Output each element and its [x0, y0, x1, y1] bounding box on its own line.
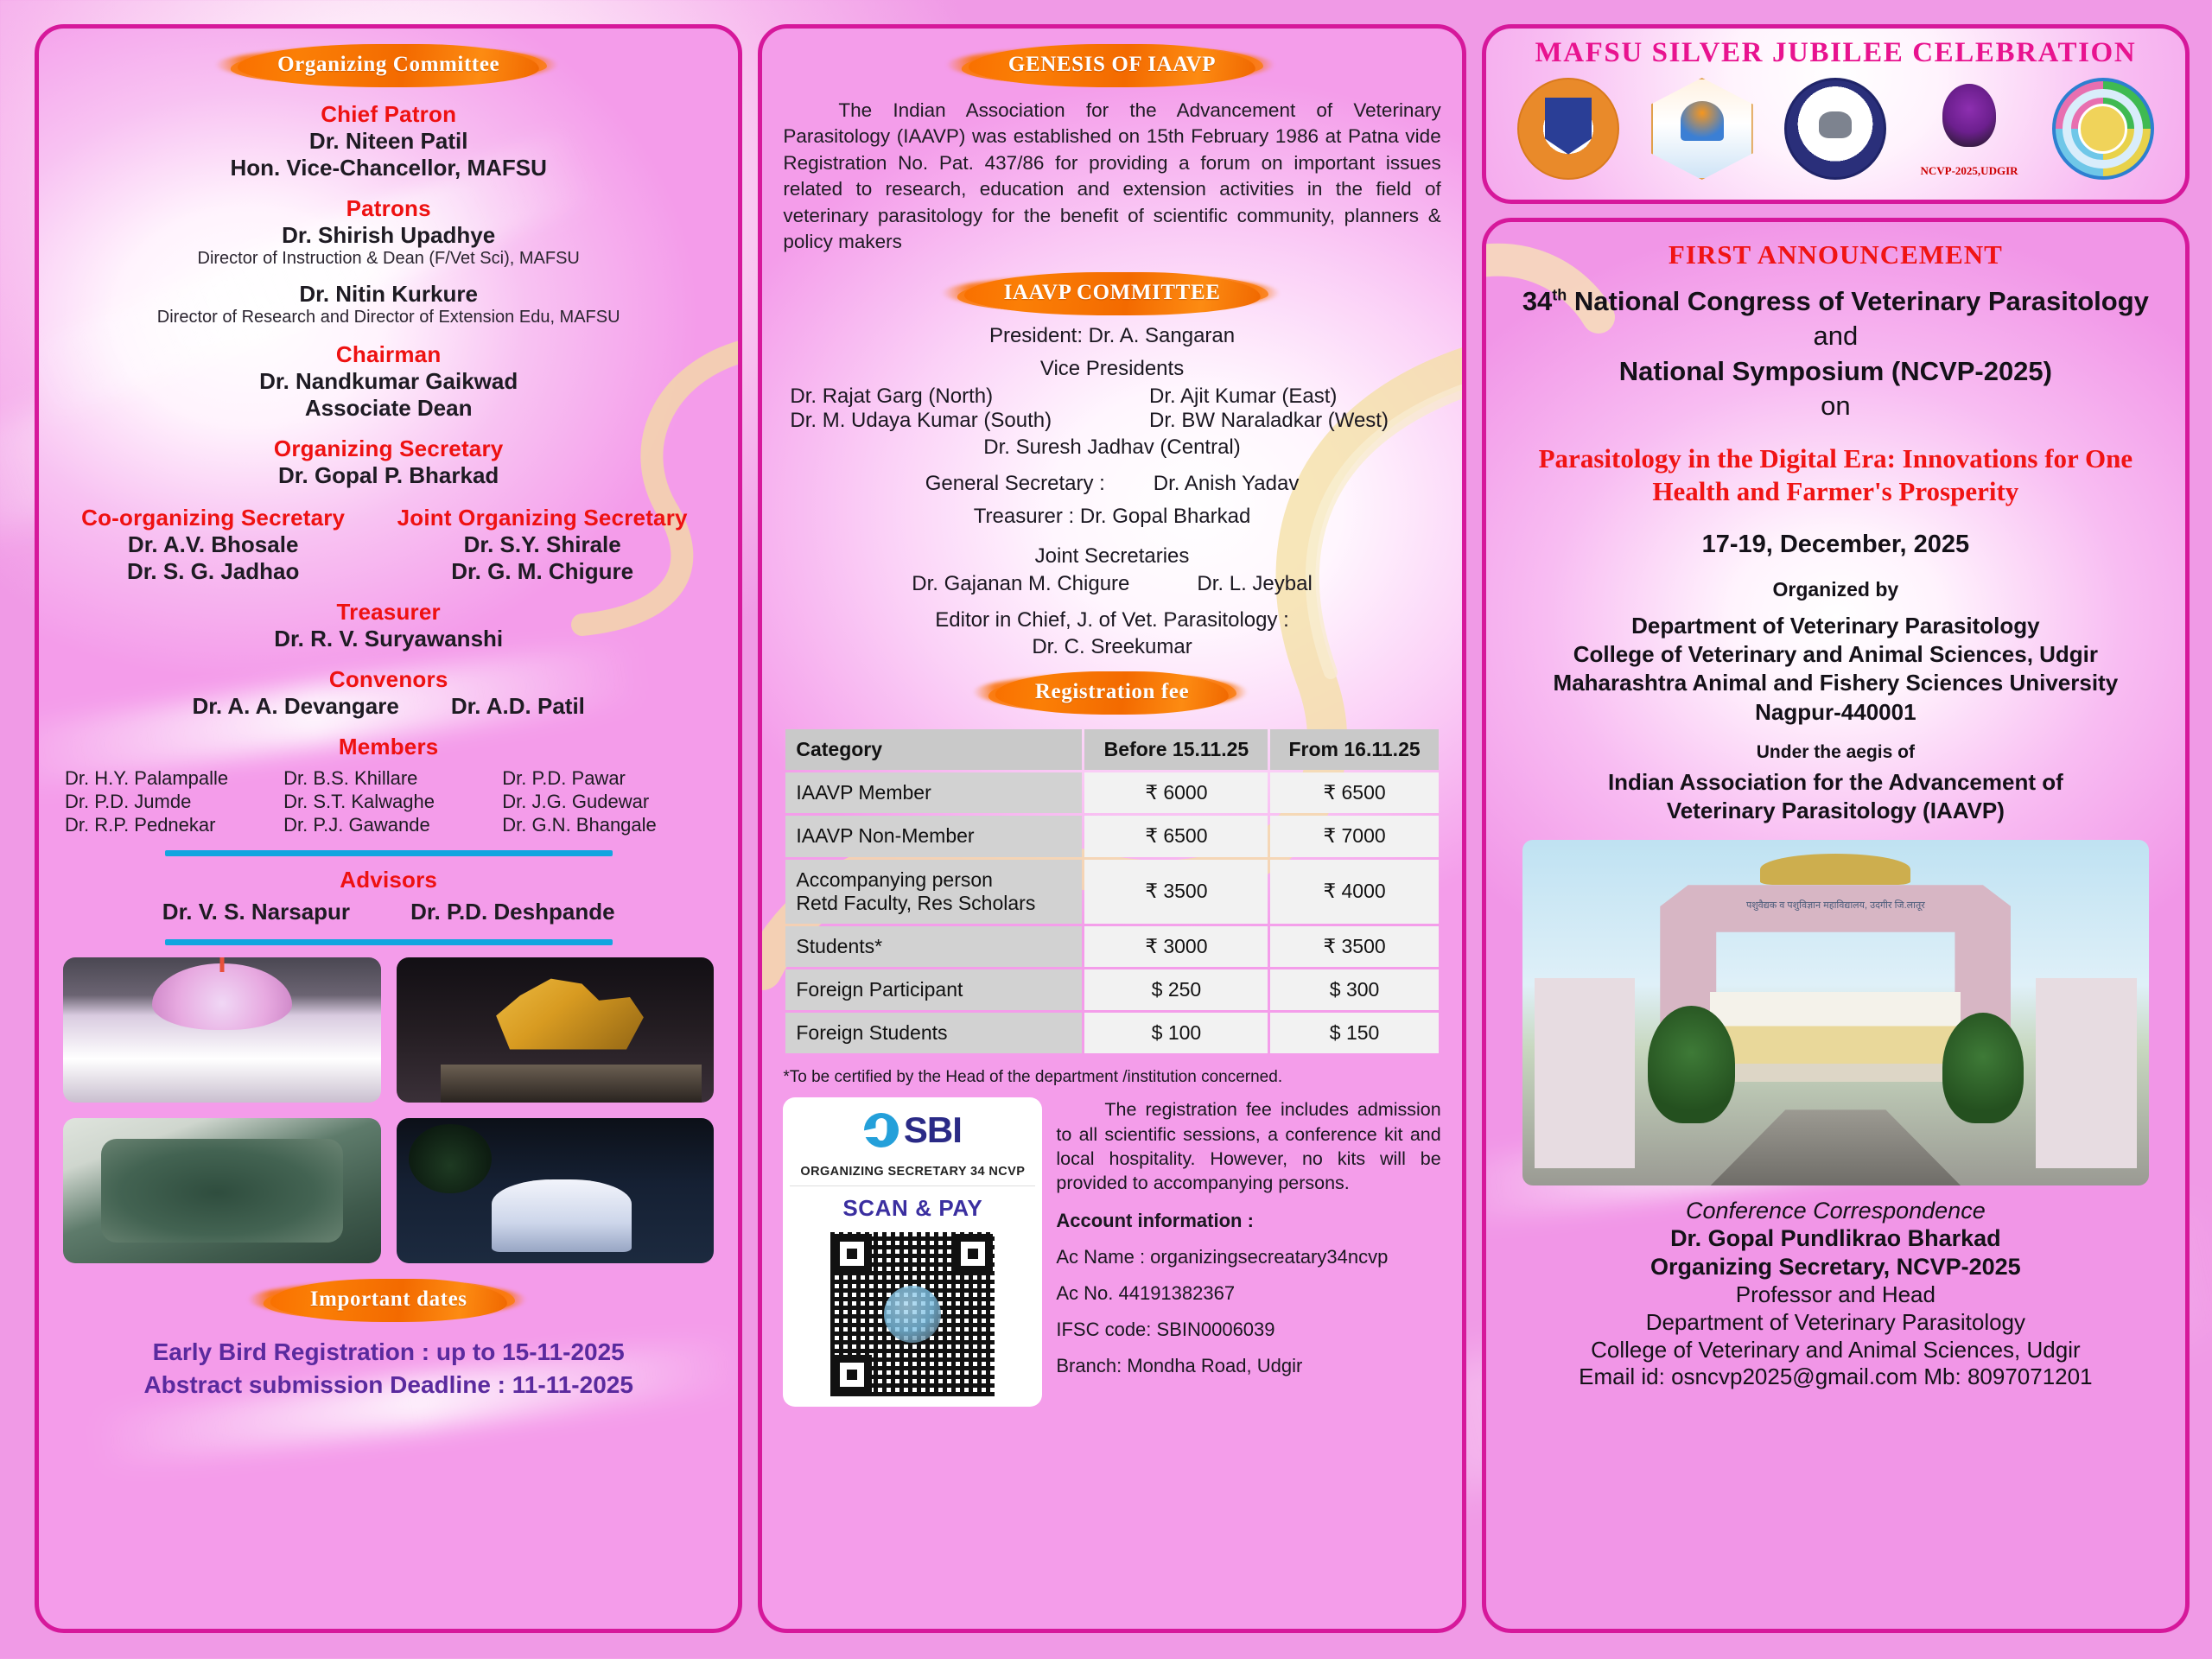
- fee-from: ₹ 4000: [1270, 860, 1438, 924]
- organizer-line-3: Maharashtra Animal and Fishery Sciences …: [1509, 669, 2163, 697]
- co-organizing-secretary-1: Dr. A.V. Bhosale: [71, 531, 356, 558]
- correspondence-department: Department of Veterinary Parasitology: [1509, 1309, 2163, 1337]
- divider-rule: [165, 850, 613, 856]
- congress-number: 34: [1522, 286, 1552, 316]
- fee-category: Accompanying person Retd Faculty, Res Sc…: [785, 860, 1082, 924]
- chairman-name: Dr. Nandkumar Gaikwad: [60, 368, 717, 395]
- banner-registration-fee: Registration fee: [995, 671, 1229, 715]
- account-information-block: The registration fee includes admission …: [1056, 1097, 1440, 1407]
- qr-finder-icon: [832, 1355, 872, 1395]
- table-row: Students* ₹ 3000 ₹ 3500: [785, 926, 1438, 967]
- divider: [790, 1185, 1035, 1186]
- patrons-label: Patrons: [60, 195, 717, 222]
- joint-organizing-secretary-2: Dr. G. M. Chigure: [378, 558, 707, 585]
- mafsu-university-logo-icon: [1517, 78, 1619, 180]
- silver-jubilee-panel: MAFSU SILVER JUBILEE CELEBRATION NCVP-20…: [1482, 24, 2190, 204]
- under-aegis-label: Under the aegis of: [1509, 742, 2163, 763]
- congress-line-1-rest: National Congress of Veterinary Parasito…: [1567, 286, 2149, 316]
- general-secretary-name: Dr. Anish Yadav: [1154, 472, 1300, 496]
- qr-finder-icon: [832, 1234, 872, 1274]
- vice-presidents-label: Vice Presidents: [783, 357, 1440, 381]
- silver-jubilee-logo-icon: [1651, 78, 1753, 180]
- joint-organizing-secretary-label: Joint Organizing Secretary: [378, 505, 707, 531]
- college-veterinary-udgir-logo-icon: [1784, 78, 1886, 180]
- member-item: Dr. P.J. Gawande: [283, 814, 493, 836]
- brochure-page: Organizing Committee Chief Patron Dr. Ni…: [0, 0, 2212, 1659]
- venue-photo-gallery: [60, 957, 717, 1263]
- sbi-scan-pay-card: SBI ORGANIZING SECRETARY 34 NCVP SCAN & …: [783, 1097, 1042, 1407]
- fee-category: IAAVP Non-Member: [785, 816, 1082, 856]
- photo-stepwell-water-tank: [63, 1118, 381, 1263]
- editor-in-chief-label: Editor in Chief, J. of Vet. Parasitology…: [783, 608, 1440, 632]
- tick-icon: [1942, 84, 1995, 147]
- aegis-line-1: Indian Association for the Advancement o…: [1509, 768, 2163, 797]
- tree: [1942, 1013, 2024, 1123]
- iaavp-logo-icon: [2052, 78, 2154, 180]
- fee-from: ₹ 3500: [1270, 926, 1438, 967]
- ncvp-logo-caption: NCVP-2025,UDGIR: [1910, 164, 2029, 178]
- fee-from: ₹ 6500: [1270, 772, 1438, 813]
- payment-section: SBI ORGANIZING SECRETARY 34 NCVP SCAN & …: [783, 1097, 1440, 1407]
- joint-secretaries-row: Dr. Gajanan M. Chigure Dr. L. Jeybal: [783, 572, 1440, 596]
- convenors-label: Convenors: [60, 666, 717, 693]
- fee-category: Students*: [785, 926, 1082, 967]
- congress-on: on: [1509, 389, 2163, 423]
- iaavp-treasurer: Treasurer : Dr. Gopal Bharkad: [783, 505, 1440, 529]
- organized-by-label: Organized by: [1509, 578, 2163, 601]
- members-grid: Dr. H.Y. Palampalle Dr. B.S. Khillare Dr…: [60, 767, 717, 836]
- organizer-line-1: Department of Veterinary Parasitology: [1509, 612, 2163, 640]
- first-announcement-panel: FIRST ANNOUNCEMENT 34th National Congres…: [1482, 218, 2190, 1633]
- genesis-and-fees-panel: GENESIS OF IAAVP The Indian Association …: [758, 24, 1465, 1633]
- organizing-secretary-label: Organizing Secretary: [60, 435, 717, 462]
- vice-presidents-grid: Dr. Rajat Garg (North) Dr. Ajit Kumar (E…: [783, 385, 1440, 433]
- aegis-line-2: Veterinary Parasitology (IAAVP): [1509, 797, 2163, 825]
- congress-line-2: National Symposium (NCVP-2025): [1509, 354, 2163, 389]
- chairman-designation: Associate Dean: [60, 395, 717, 422]
- correspondence-college: College of Veterinary and Animal Science…: [1509, 1337, 2163, 1364]
- organizer-address: Department of Veterinary Parasitology Co…: [1509, 612, 2163, 727]
- fee-before: ₹ 6000: [1084, 772, 1268, 813]
- editor-in-chief-name: Dr. C. Sreekumar: [783, 635, 1440, 659]
- gate-signboard-text: पशुवैद्यक व पशुविज्ञान महाविद्यालय, उदगी…: [1685, 899, 1986, 912]
- fee-category: Foreign Participant: [785, 969, 1082, 1010]
- fee-before: ₹ 6500: [1084, 816, 1268, 856]
- fee-category: Foreign Students: [785, 1013, 1082, 1053]
- member-item: Dr. P.D. Pawar: [502, 767, 712, 790]
- member-item: Dr. H.Y. Palampalle: [65, 767, 275, 790]
- qr-finder-icon: [953, 1234, 993, 1274]
- congress-line-1: 34th National Congress of Veterinary Par…: [1509, 284, 2163, 319]
- gate-crescent-ornament: [1760, 854, 1910, 885]
- patron-1-name: Dr. Shirish Upadhye: [60, 222, 717, 249]
- conference-theme: Parasitology in the Digital Era: Innovat…: [1509, 442, 2163, 508]
- treasurer-label: Treasurer: [60, 599, 717, 626]
- conference-correspondence-title: Conference Correspondence: [1509, 1198, 2163, 1224]
- qr-code[interactable]: [830, 1232, 995, 1396]
- column-header-before: Before 15.11.25: [1084, 729, 1268, 770]
- college-building: [1710, 992, 1961, 1082]
- first-announcement-title: FIRST ANNOUNCEMENT: [1509, 239, 2163, 270]
- column-header-category: Category: [785, 729, 1082, 770]
- congress-title: 34th National Congress of Veterinary Par…: [1509, 284, 2163, 423]
- fee-from: $ 150: [1270, 1013, 1438, 1053]
- member-item: Dr. G.N. Bhangale: [502, 814, 712, 836]
- correspondence-contact: Email id: osncvp2025@gmail.com Mb: 80970…: [1509, 1363, 2163, 1391]
- convenor-1: Dr. A. A. Devangare: [192, 693, 398, 720]
- chief-patron-designation: Hon. Vice-Chancellor, MAFSU: [60, 155, 717, 181]
- aegis-organization: Indian Association for the Advancement o…: [1509, 768, 2163, 825]
- joint-secretaries-label: Joint Secretaries: [783, 544, 1440, 569]
- member-item: Dr. B.S. Khillare: [283, 767, 493, 790]
- joint-organizing-secretary-1: Dr. S.Y. Shirale: [378, 531, 707, 558]
- patron-2-designation: Director of Research and Director of Ext…: [60, 308, 717, 327]
- convenor-2: Dr. A.D. Patil: [451, 693, 585, 720]
- congress-and: and: [1509, 319, 2163, 353]
- fee-from: ₹ 7000: [1270, 816, 1438, 856]
- organizer-line-4: Nagpur-440001: [1509, 698, 2163, 727]
- fee-category: IAAVP Member: [785, 772, 1082, 813]
- treasurer-name: Dr. R. V. Suryawanshi: [60, 626, 717, 652]
- member-item: Dr. J.G. Gudewar: [502, 791, 712, 813]
- co-organizing-secretary-2: Dr. S. G. Jadhao: [71, 558, 356, 585]
- sbi-keyhole-icon: [864, 1113, 899, 1147]
- banner-iaavp-committee: IAAVP COMMITTEE: [964, 272, 1261, 315]
- table-header-row: Category Before 15.11.25 From 16.11.25: [785, 729, 1438, 770]
- vice-president-north: Dr. Rajat Garg (North): [783, 385, 1104, 409]
- silver-jubilee-title: MAFSU SILVER JUBILEE CELEBRATION: [1486, 37, 2185, 69]
- sbi-account-caption: ORGANIZING SECRETARY 34 NCVP: [790, 1165, 1035, 1179]
- table-row: Foreign Students $ 100 $ 150: [785, 1013, 1438, 1053]
- general-secretary-row: General Secretary : Dr. Anish Yadav: [783, 472, 1440, 496]
- correspondence-role: Organizing Secretary, NCVP-2025: [1509, 1253, 2163, 1281]
- organizer-line-2: College of Veterinary and Animal Science…: [1509, 640, 2163, 669]
- chairman-label: Chairman: [60, 341, 717, 368]
- congress-ordinal-suffix: th: [1552, 287, 1567, 304]
- banner-organizing-committee: Organizing Committee: [238, 44, 539, 87]
- advisor-2: Dr. P.D. Deshpande: [410, 899, 615, 925]
- patron-2-name: Dr. Nitin Kurkure: [60, 281, 717, 308]
- member-item: Dr. P.D. Jumde: [65, 791, 275, 813]
- genesis-paragraph: The Indian Association for the Advanceme…: [783, 98, 1440, 255]
- bhim-upi-globe-icon: [884, 1286, 941, 1343]
- fee-from: $ 300: [1270, 969, 1438, 1010]
- photo-shivaji-equestrian-statue: [397, 957, 715, 1103]
- iaavp-president: President: Dr. A. Sangaran: [783, 324, 1440, 348]
- advisor-1: Dr. V. S. Narsapur: [162, 899, 350, 925]
- conference-dates: 17-19, December, 2025: [1509, 531, 2163, 559]
- account-information-label: Account information :: [1056, 1210, 1440, 1232]
- co-organizing-secretary-label: Co-organizing Secretary: [71, 505, 356, 531]
- chief-patron-name: Dr. Niteen Patil: [60, 128, 717, 155]
- chief-patron-label: Chief Patron: [60, 101, 717, 128]
- general-secretary-label: General Secretary :: [925, 472, 1105, 496]
- table-row: IAAVP Non-Member ₹ 6500 ₹ 7000: [785, 816, 1438, 856]
- gate-left-pillar: [1535, 978, 1635, 1168]
- sbi-logo: SBI: [790, 1109, 1035, 1151]
- advisors-label: Advisors: [60, 867, 717, 893]
- vice-president-east: Dr. Ajit Kumar (East): [1120, 385, 1441, 409]
- fee-before: $ 100: [1084, 1013, 1268, 1053]
- joint-secretary-1: Dr. Gajanan M. Chigure: [912, 572, 1129, 596]
- member-item: Dr. R.P. Pednekar: [65, 814, 275, 836]
- gate-right-pillar: [2036, 978, 2136, 1168]
- banner-genesis-of-iaavp: GENESIS OF IAAVP: [969, 44, 1255, 87]
- fee-before: $ 250: [1084, 969, 1268, 1010]
- fee-includes-paragraph: The registration fee includes admission …: [1056, 1097, 1440, 1196]
- fee-before: ₹ 3500: [1084, 860, 1268, 924]
- driveway: [1710, 1109, 1961, 1185]
- photo-udgir-temple-dome: [63, 957, 381, 1103]
- correspondence-post: Professor and Head: [1509, 1281, 2163, 1309]
- vice-president-west: Dr. BW Naraladkar (West): [1120, 409, 1441, 433]
- organizing-secretary-name: Dr. Gopal P. Bharkad: [60, 462, 717, 489]
- member-item: Dr. S.T. Kalwaghe: [283, 791, 493, 813]
- tree: [1648, 1006, 1736, 1123]
- fee-before: ₹ 3000: [1084, 926, 1268, 967]
- registration-fee-table: Category Before 15.11.25 From 16.11.25 I…: [783, 727, 1440, 1056]
- table-row: IAAVP Member ₹ 6000 ₹ 6500: [785, 772, 1438, 813]
- logo-strip: NCVP-2025,UDGIR: [1486, 78, 2185, 180]
- account-name: Ac Name : organizingsecreatary34ncvp: [1056, 1246, 1440, 1268]
- patron-1-designation: Director of Instruction & Dean (F/Vet Sc…: [60, 249, 717, 269]
- announcement-column: MAFSU SILVER JUBILEE CELEBRATION NCVP-20…: [1482, 24, 2190, 1633]
- column-header-from: From 16.11.25: [1270, 729, 1438, 770]
- scan-and-pay-label: SCAN & PAY: [790, 1195, 1035, 1222]
- banner-important-dates: Important dates: [270, 1279, 507, 1322]
- vice-president-central: Dr. Suresh Jadhav (Central): [783, 435, 1440, 460]
- members-label: Members: [60, 734, 717, 760]
- ifsc-code: IFSC code: SBIN0006039: [1056, 1319, 1440, 1341]
- photo-college-entrance-gate: पशुवैद्यक व पशुविज्ञान महाविद्यालय, उदगी…: [1522, 840, 2149, 1185]
- vice-president-south: Dr. M. Udaya Kumar (South): [783, 409, 1104, 433]
- account-number: Ac No. 44191382367: [1056, 1282, 1440, 1305]
- table-row: Foreign Participant $ 250 $ 300: [785, 969, 1438, 1010]
- sbi-brand-text: SBI: [904, 1109, 962, 1151]
- bank-branch: Branch: Mondha Road, Udgir: [1056, 1355, 1440, 1377]
- table-row: Accompanying person Retd Faculty, Res Sc…: [785, 860, 1438, 924]
- divider-rule: [165, 939, 613, 945]
- date-early-bird: Early Bird Registration : up to 15-11-20…: [60, 1336, 717, 1369]
- date-abstract-deadline: Abstract submission Deadline : 11-11-202…: [60, 1369, 717, 1402]
- fee-certification-note: *To be certified by the Head of the depa…: [783, 1068, 1440, 1087]
- joint-secretary-2: Dr. L. Jeybal: [1197, 572, 1312, 596]
- photo-night-temple-complex: [397, 1118, 715, 1263]
- ncvp-2025-tick-logo-icon: NCVP-2025,UDGIR: [1918, 78, 2020, 180]
- correspondence-name: Dr. Gopal Pundlikrao Bharkad: [1509, 1224, 2163, 1253]
- organizing-committee-panel: Organizing Committee Chief Patron Dr. Ni…: [35, 24, 742, 1633]
